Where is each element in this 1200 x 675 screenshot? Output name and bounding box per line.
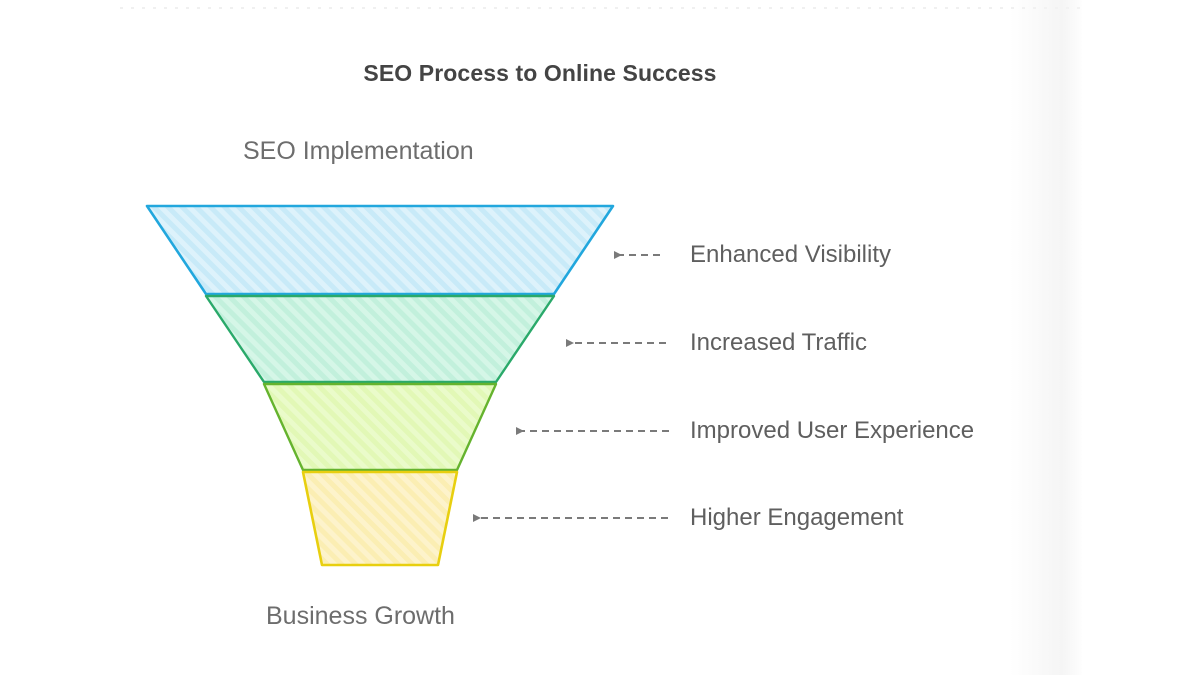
funnel-bottom-cap-label: Business Growth bbox=[266, 602, 455, 631]
funnel-stage-label-improved-user-experience: Improved User Experience bbox=[690, 417, 974, 445]
funnel-stage-label-increased-traffic: Increased Traffic bbox=[690, 329, 867, 357]
funnel-segment-higher-engagement[interactable] bbox=[303, 472, 457, 565]
funnel-segment-shape-3 bbox=[264, 384, 496, 470]
slide-canvas: SEO Process to Online Success SEO Implem… bbox=[0, 0, 1200, 675]
funnel-segment-enhanced-visibility[interactable] bbox=[147, 206, 613, 294]
funnel-segment-shape-2 bbox=[206, 296, 554, 382]
funnel-segment-improved-user-experience[interactable] bbox=[264, 384, 496, 470]
canvas-right-edge-shadow bbox=[1010, 0, 1082, 675]
funnel-segment-shape-1 bbox=[147, 206, 613, 294]
funnel-segment-shape-4 bbox=[303, 472, 457, 565]
funnel-stage-label-higher-engagement: Higher Engagement bbox=[690, 504, 903, 532]
funnel-stage-label-enhanced-visibility: Enhanced Visibility bbox=[690, 241, 891, 269]
funnel-segment-increased-traffic[interactable] bbox=[206, 296, 554, 382]
